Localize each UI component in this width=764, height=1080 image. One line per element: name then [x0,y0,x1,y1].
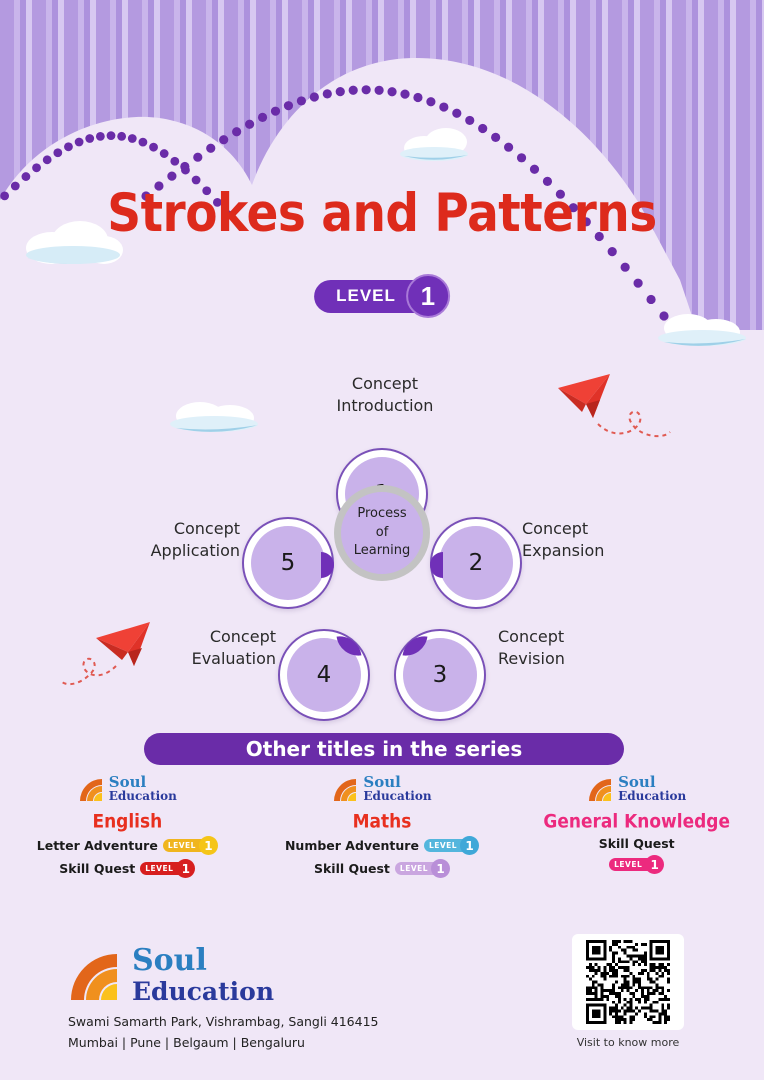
diagram-step-5: 5 [242,517,334,609]
level-number: 1 [645,855,664,874]
book-entry: Skill Quest LEVEL 1 [599,836,675,874]
diagram-label-1: Concept Introduction [330,373,440,416]
qr-block[interactable]: Visit to know more [572,934,684,1049]
level-badge: LEVEL 1 [609,855,664,874]
brand-name-bottom: Education [363,790,431,802]
hub-line-2: of [376,524,389,543]
level-badge: LEVEL 1 [140,859,195,878]
brand-name-bottom: Education [109,790,177,802]
brand-name-bottom: Education [618,790,686,802]
qr-caption: Visit to know more [572,1036,684,1049]
qr-code-icon[interactable] [572,934,684,1030]
series-column-general-knowledge: Soul Education General Knowledge Skill Q… [509,775,764,878]
diagram-label-3: Concept Revision [498,626,565,669]
brand-logo: Soul Education [78,775,177,802]
rainbow-arc-icon [587,775,617,801]
step-number: 2 [439,526,513,600]
address-line-2: Mumbai | Pune | Belgaum | Bengaluru [68,1033,379,1054]
book-title: Letter Adventure [37,838,158,853]
level-number: 1 [176,859,195,878]
brand-name-top: Soul [109,775,177,790]
diagram-label-2: Concept Expansion [522,518,604,561]
step-nub [321,552,334,578]
series-banner: Other titles in the series [144,733,624,765]
rainbow-arc-icon [332,775,362,801]
subject-title: English [92,811,162,833]
hub-line-3: Learning [354,542,410,561]
diagram-step-3: 3 [394,629,486,721]
cloud-icon [396,124,476,164]
book-entry: Number Adventure LEVEL 1 [285,836,479,855]
process-of-learning-diagram: Process of Learning 1 2 3 4 5 Concept In… [0,360,764,690]
rainbow-arc-icon [68,944,130,1000]
level-number: 1 [431,859,450,878]
level-number: 1 [460,836,479,855]
address-line-1: Swami Samarth Park, Vishrambag, Sangli 4… [68,1012,379,1033]
series-columns: Soul Education English Letter Adventure … [0,775,764,878]
brand-logo: Soul Education [587,775,686,802]
book-entry: Letter Adventure LEVEL 1 [37,836,218,855]
book-entry: Skill Quest LEVEL 1 [314,859,450,878]
brand-name-top: Soul [363,775,431,790]
series-column-maths: Soul Education Maths Number Adventure LE… [255,775,510,878]
brand-name-top: Soul [132,946,274,976]
brand-logo: Soul Education [332,775,431,802]
footer-brand-logo: Soul Education [68,944,274,1004]
book-title: Skill Quest [59,861,135,876]
rainbow-arc-icon [78,775,108,801]
diagram-step-2: 2 [430,517,522,609]
book-entry: Skill Quest LEVEL 1 [59,859,195,878]
level-badge: LEVEL 1 [163,836,218,855]
book-title: Skill Quest [599,836,675,851]
brand-name-top: Soul [618,775,686,790]
level-number: 1 [406,274,450,318]
brand-name-bottom: Education [132,979,274,1004]
diagram-label-4: Concept Evaluation [180,626,276,669]
level-badge: LEVEL 1 [395,859,450,878]
hub-line-1: Process [357,505,406,524]
series-column-english: Soul Education English Letter Adventure … [0,775,255,878]
diagram-label-5: Concept Application [148,518,240,561]
level-number: 1 [199,836,218,855]
step-number: 5 [251,526,325,600]
level-badge: LEVEL 1 [424,836,479,855]
subject-title: Maths [353,811,412,833]
footer-address: Swami Samarth Park, Vishrambag, Sangli 4… [68,1012,379,1053]
step-nub [430,552,443,578]
book-title: Number Adventure [285,838,419,853]
cloud-icon [656,302,756,352]
level-badge: LEVEL 1 [314,274,450,318]
page-title: Strokes and Patterns [0,183,764,245]
book-title: Skill Quest [314,861,390,876]
diagram-step-4: 4 [278,629,370,721]
diagram-hub: Process of Learning [334,485,430,581]
subject-title: General Knowledge [543,811,730,833]
